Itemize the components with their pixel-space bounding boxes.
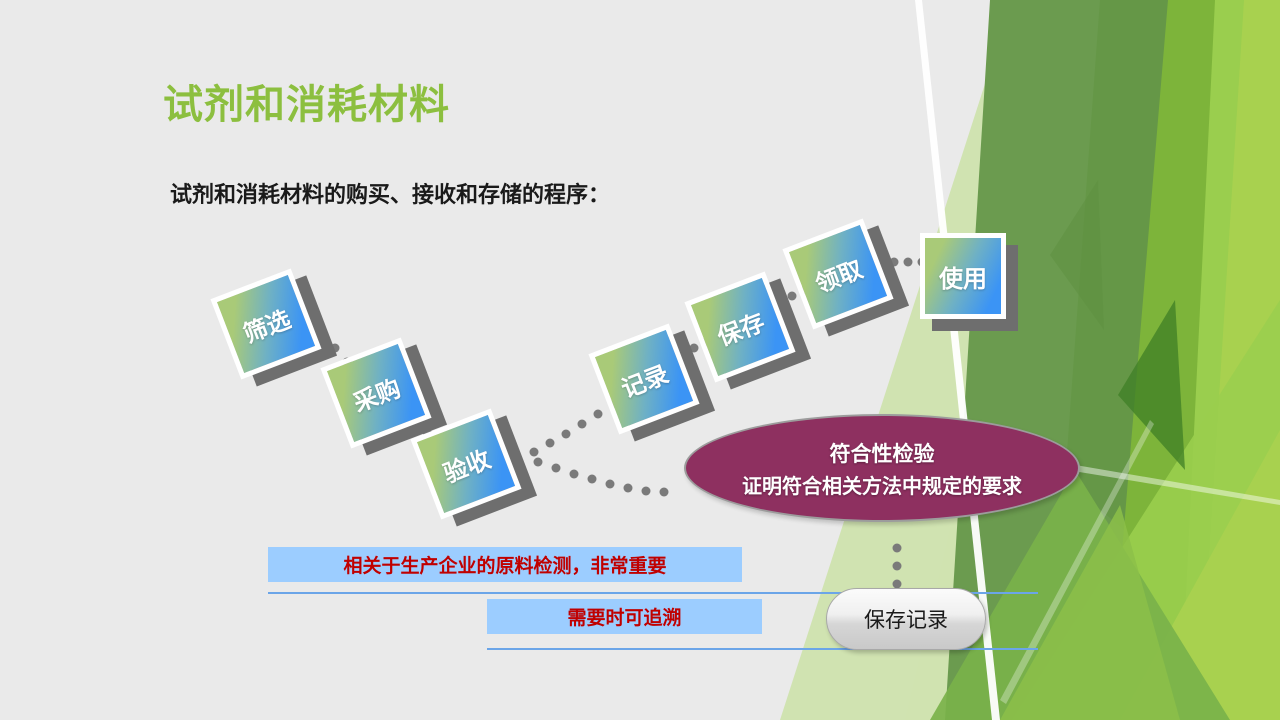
slide-canvas: 试剂和消耗材料 试剂和消耗材料的购买、接收和存储的程序： 筛选 采购 验收 记录… — [0, 0, 1280, 720]
compliance-ellipse[interactable]: 符合性检验 证明符合相关方法中规定的要求 — [684, 414, 1080, 522]
node-label: 记录 — [615, 354, 672, 404]
flow-node-record[interactable]: 记录 — [588, 323, 699, 434]
compliance-detail: 证明符合相关方法中规定的要求 — [742, 470, 1022, 499]
node-label: 领取 — [809, 249, 866, 299]
flow-node-use[interactable]: 使用 — [920, 233, 1006, 319]
callout-text: 需要时可追溯 — [567, 603, 681, 630]
callout-raw-material[interactable]: 相关于生产企业的原料检测，非常重要 — [268, 547, 742, 582]
flow-node-storage[interactable]: 保存 — [684, 271, 795, 382]
compliance-heading: 符合性检验 — [830, 438, 935, 468]
flow-node-screening[interactable]: 筛选 — [210, 268, 321, 379]
flow-node-purchase[interactable]: 采购 — [320, 337, 431, 448]
node-label: 采购 — [347, 368, 404, 418]
record-pill[interactable]: 保存记录 — [826, 588, 986, 650]
page-subtitle: 试剂和消耗材料的购买、接收和存储的程序： — [170, 177, 610, 209]
node-label: 验收 — [437, 439, 494, 489]
node-face: 使用 — [920, 233, 1006, 319]
flow-node-collect[interactable]: 领取 — [782, 218, 893, 329]
node-label: 使用 — [939, 259, 987, 294]
record-pill-label: 保存记录 — [864, 604, 948, 634]
page-title: 试剂和消耗材料 — [163, 72, 450, 130]
callout-text: 相关于生产企业的原料检测，非常重要 — [343, 551, 666, 578]
node-label: 保存 — [711, 302, 768, 352]
callout-traceable[interactable]: 需要时可追溯 — [487, 599, 762, 634]
node-label: 筛选 — [237, 299, 294, 349]
